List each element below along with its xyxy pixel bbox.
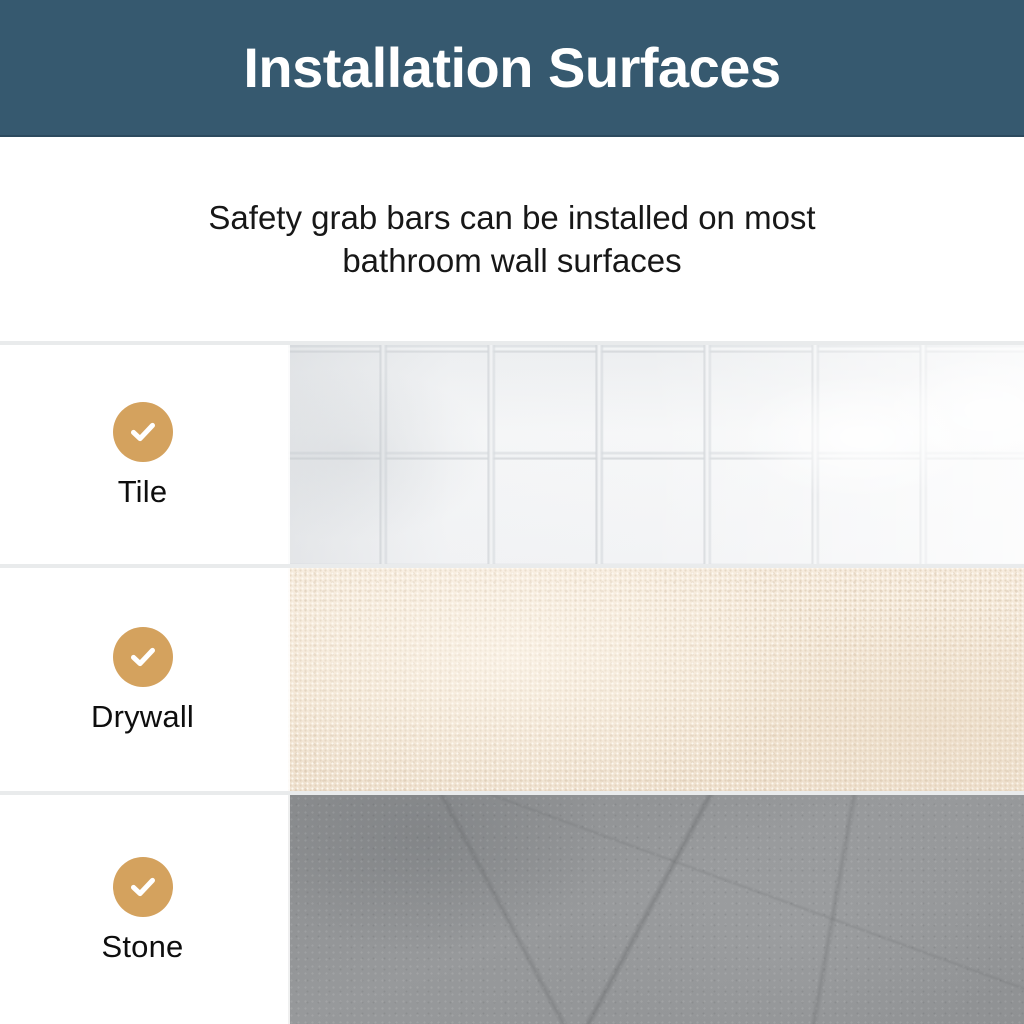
surface-list: Tile Drywall (0, 341, 1024, 1024)
drywall-texture (288, 568, 1024, 791)
subtitle-text: Safety grab bars can be installed on mos… (152, 197, 872, 283)
page-header: Installation Surfaces (0, 0, 1024, 137)
installation-surfaces-infographic: Installation Surfaces Safety grab bars c… (0, 0, 1024, 1024)
surface-swatch-stone (288, 795, 1024, 1024)
surface-label-cell: Tile (0, 345, 285, 564)
subtitle-section: Safety grab bars can be installed on mos… (0, 139, 1024, 341)
surface-swatch-drywall (288, 568, 1024, 791)
surface-label-cell: Stone (0, 795, 285, 1024)
stone-texture (288, 795, 1024, 1024)
surface-label-text: Tile (118, 476, 168, 507)
surface-row-drywall[interactable]: Drywall (0, 568, 1024, 791)
check-circle-icon (113, 857, 173, 917)
check-circle-icon (113, 402, 173, 462)
surface-label-text: Stone (101, 931, 183, 962)
surface-label-text: Drywall (91, 701, 194, 732)
tile-texture (288, 345, 1024, 564)
surface-swatch-tile (288, 345, 1024, 564)
surface-row-tile[interactable]: Tile (0, 345, 1024, 564)
page-title: Installation Surfaces (243, 40, 780, 96)
surface-row-stone[interactable]: Stone (0, 795, 1024, 1024)
surface-label-cell: Drywall (0, 568, 285, 791)
check-circle-icon (113, 627, 173, 687)
